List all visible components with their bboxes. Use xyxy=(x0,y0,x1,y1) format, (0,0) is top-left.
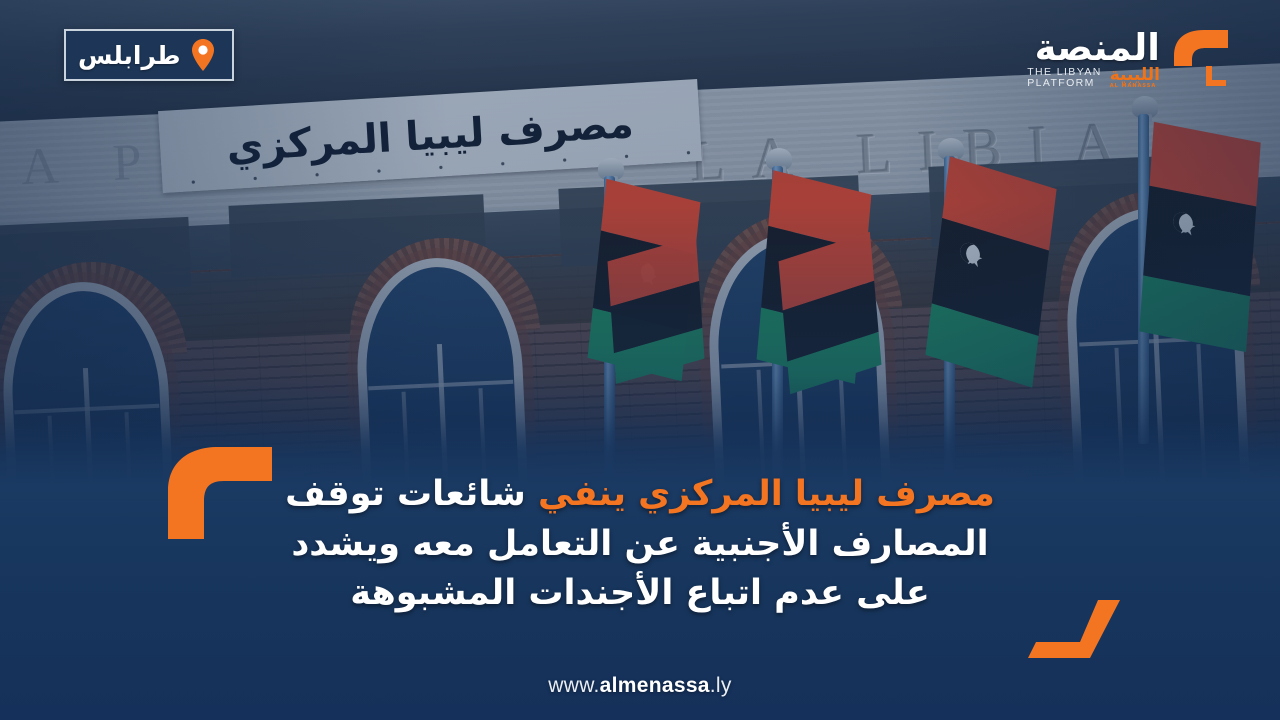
headline-line-3: على عدم اتباع الأجندات المشبوهة xyxy=(150,569,1130,619)
news-card: SA PL LA LIBIA xyxy=(0,0,1280,720)
brand-name-arabic: المنصة xyxy=(1035,30,1160,65)
location-label: طرابلس xyxy=(78,43,181,68)
brand-sub-tiny: AL MANASSA xyxy=(1110,84,1160,89)
brand-mark-icon xyxy=(1166,26,1234,88)
map-pin-icon xyxy=(190,38,216,72)
headline-line-1: مصرف ليبيا المركزي ينفي شائعات توقف xyxy=(150,470,1130,520)
brand-sub-arabic-text: الليبية xyxy=(1110,65,1160,85)
brand-sub-arabic: الليبية AL MANASSA xyxy=(1110,67,1160,89)
brand-english-line2: PLATFORM xyxy=(1027,77,1095,89)
url-brand: almenassa xyxy=(600,674,710,697)
url-prefix: www. xyxy=(548,674,599,697)
brand-name-english: THE LIBYAN PLATFORM xyxy=(1027,67,1102,89)
url-tld: .ly xyxy=(710,674,732,697)
location-badge[interactable]: طرابلس xyxy=(64,29,234,81)
headline: مصرف ليبيا المركزي ينفي شائعات توقف المص… xyxy=(0,470,1280,619)
brand-subtitle: THE LIBYAN PLATFORM الليبية AL MANASSA xyxy=(1027,67,1160,89)
website-url[interactable]: www.almenassa.ly xyxy=(0,674,1280,698)
headline-accent-text: مصرف ليبيا المركزي ينفي xyxy=(538,474,995,514)
headline-line1-rest: شائعات توقف xyxy=(285,474,538,514)
brand-logo-text: المنصة THE LIBYAN PLATFORM الليبية AL MA… xyxy=(1027,22,1160,89)
brand-logo[interactable]: المنصة THE LIBYAN PLATFORM الليبية AL MA… xyxy=(1027,22,1234,89)
headline-line-2: المصارف الأجنبية عن التعامل معه ويشدد xyxy=(150,520,1130,570)
